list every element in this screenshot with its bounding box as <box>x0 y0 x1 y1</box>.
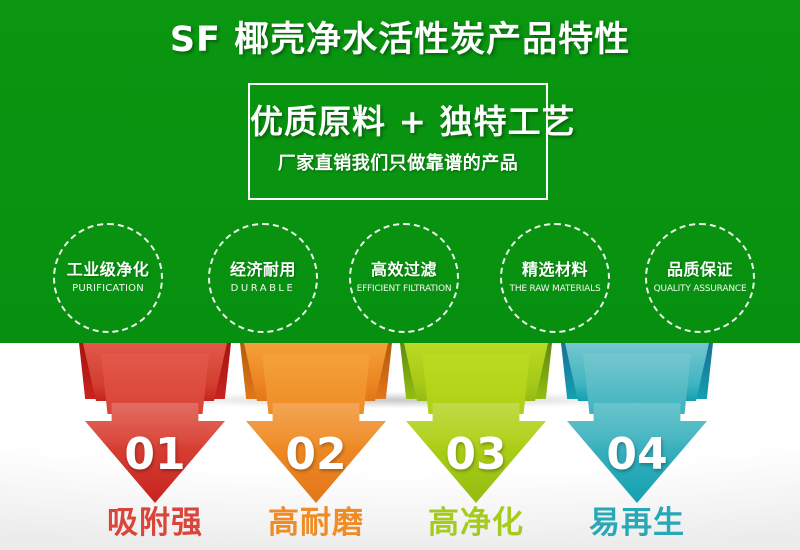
step-arrow-01[interactable]: 01吸附强 <box>79 343 231 550</box>
feature-circle-1[interactable]: 工业级净化PURIFICATION <box>53 223 163 333</box>
arrow-head <box>567 403 707 503</box>
feature-circle-3[interactable]: 高效过滤EFFICIENT FILTRATION <box>349 223 459 333</box>
arrow-head <box>85 403 225 503</box>
feature-circle-label-cn: 高效过滤 <box>371 260 437 280</box>
arrow-graphic <box>400 343 552 503</box>
step-label: 吸附强 <box>79 503 231 543</box>
step-label: 易再生 <box>561 503 713 543</box>
feature-circle-label-en: EFFICIENT FILTRATION <box>357 282 452 296</box>
feature-circle-label-en: THE RAW MATERIALS <box>510 282 601 296</box>
feature-circle-2[interactable]: 经济耐用DURABLE <box>208 223 318 333</box>
feature-circle-label-cn: 经济耐用 <box>230 260 296 280</box>
feature-circle-label-en: QUALITY ASSURANCE <box>654 282 747 296</box>
step-arrow-02[interactable]: 02高耐磨 <box>240 343 392 550</box>
step-arrow-03[interactable]: 03高净化 <box>400 343 552 550</box>
feature-circle-label-cn: 工业级净化 <box>67 260 150 280</box>
slogan-main-text: 优质原料 + 独特工艺 <box>250 101 546 143</box>
step-arrow-04[interactable]: 04易再生 <box>561 343 713 550</box>
step-label: 高净化 <box>400 503 552 543</box>
arrow-head <box>246 403 386 503</box>
arrow-graphic <box>79 343 231 503</box>
slogan-sub-text: 厂家直销我们只做靠谱的产品 <box>250 151 546 177</box>
green-header-panel: SF 椰壳净水活性炭产品特性 优质原料 + 独特工艺 厂家直销我们只做靠谱的产品… <box>0 0 800 343</box>
arrow-graphic <box>240 343 392 503</box>
feature-circle-label-cn: 品质保证 <box>667 260 733 280</box>
arrow-gloss <box>406 403 546 449</box>
page-title: SF 椰壳净水活性炭产品特性 <box>0 18 800 62</box>
feature-circle-label-en: PURIFICATION <box>72 282 144 296</box>
promo-banner: SF 椰壳净水活性炭产品特性 优质原料 + 独特工艺 厂家直销我们只做靠谱的产品… <box>0 0 800 550</box>
feature-circle-label-cn: 精选材料 <box>522 260 588 280</box>
arrow-gloss <box>85 403 225 449</box>
feature-circle-4[interactable]: 精选材料THE RAW MATERIALS <box>500 223 610 333</box>
arrow-head <box>406 403 546 503</box>
feature-circle-5[interactable]: 品质保证QUALITY ASSURANCE <box>645 223 755 333</box>
arrow-gloss <box>567 403 707 449</box>
white-steps-panel: 01吸附强02高耐磨03高净化04易再生 <box>0 343 800 550</box>
arrow-gloss <box>246 403 386 449</box>
arrow-graphic <box>561 343 713 503</box>
feature-circle-label-en: DURABLE <box>231 282 296 296</box>
step-label: 高耐磨 <box>240 503 392 543</box>
slogan-frame: 优质原料 + 独特工艺 厂家直销我们只做靠谱的产品 <box>248 83 548 200</box>
